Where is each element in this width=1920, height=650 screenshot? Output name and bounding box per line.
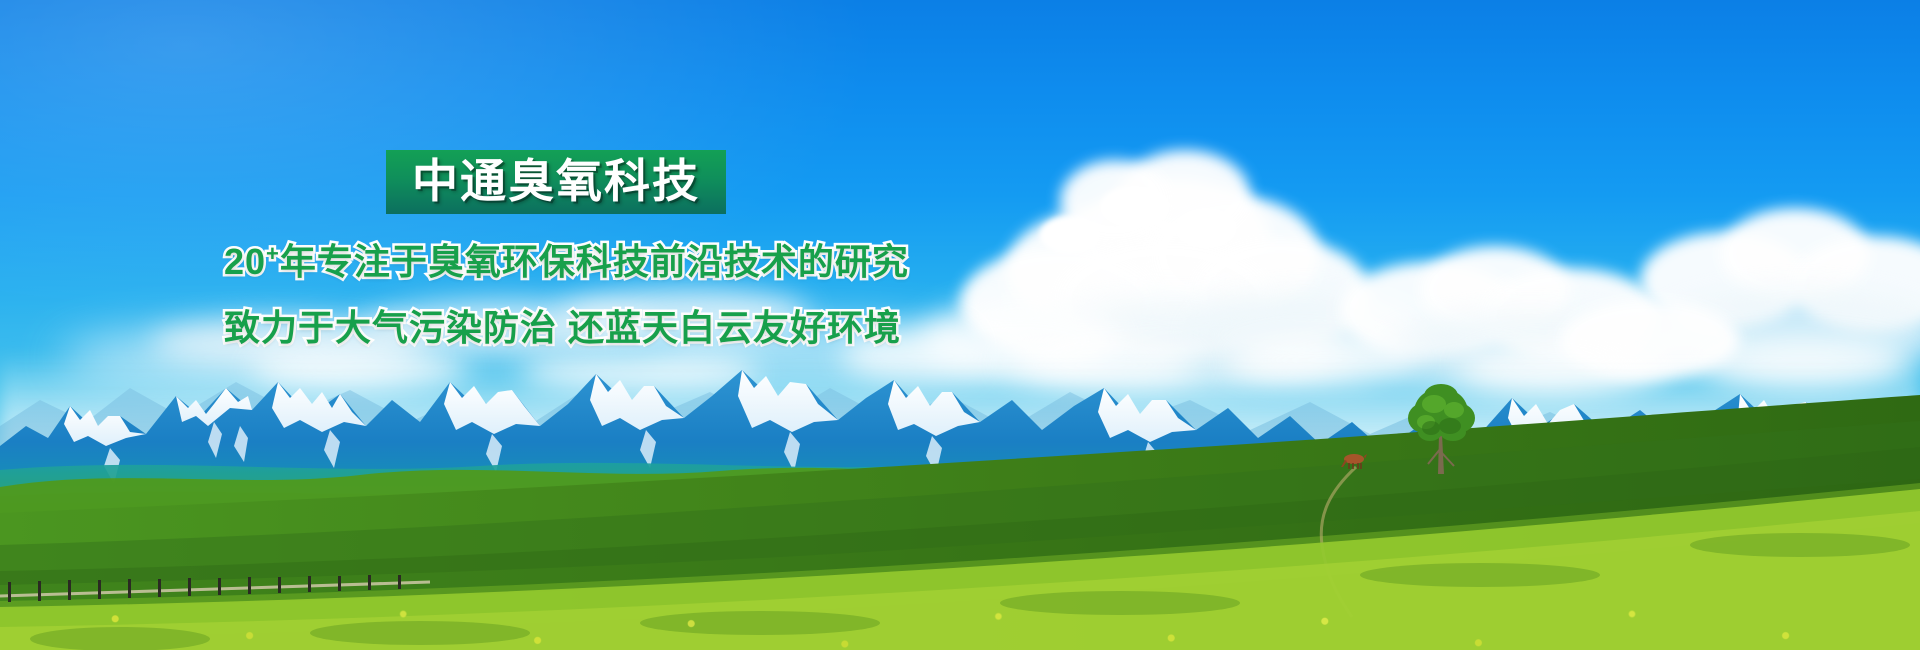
tagline-line-2: 致力于大气污染防治 还蓝天白云友好环境: [224, 310, 1100, 346]
lone-tree: [1398, 382, 1484, 474]
fence-line: [0, 574, 430, 608]
grazing-cow: [1338, 452, 1368, 470]
brand-title-plate: 中通臭氧科技: [386, 150, 726, 214]
hero-banner: 中通臭氧科技 20+年专注于臭氧环保科技前沿技术的研究 致力于大气污染防治 还蓝…: [0, 0, 1920, 650]
tagline-plus-superscript: +: [266, 241, 280, 266]
tagline-years-number: 20: [224, 241, 266, 282]
hero-text-block: 中通臭氧科技 20+年专注于臭氧环保科技前沿技术的研究 致力于大气污染防治 还蓝…: [0, 150, 1100, 346]
tagline-line-1: 20+年专注于臭氧环保科技前沿技术的研究: [224, 244, 1100, 280]
brand-title: 中通臭氧科技: [412, 158, 700, 204]
tagline-line-1-rest: 年专注于臭氧环保科技前沿技术的研究: [280, 241, 909, 282]
